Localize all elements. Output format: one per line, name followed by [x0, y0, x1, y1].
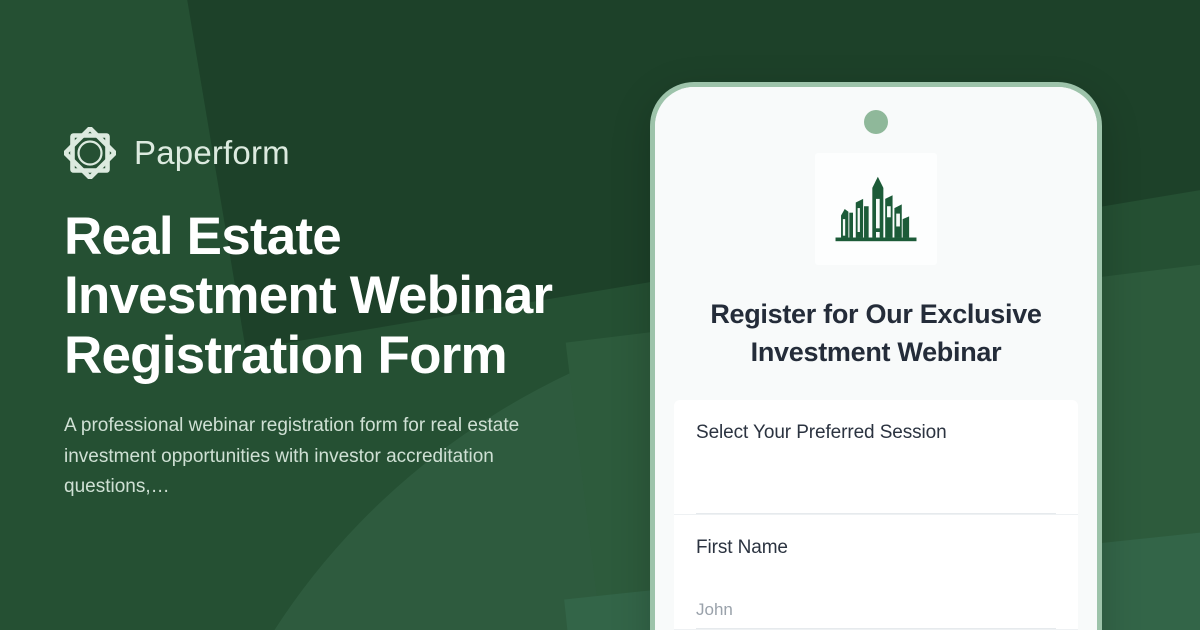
form-fields: Select Your Preferred Session First Name…: [674, 400, 1078, 630]
field-label-first-name: First Name: [696, 537, 1056, 559]
session-select-input[interactable]: [696, 472, 1056, 514]
camera-dot-icon: [864, 110, 888, 134]
city-buildings-icon: [830, 171, 922, 247]
phone-screen: Register for Our Exclusive Investment We…: [655, 87, 1097, 630]
form-field-first-name[interactable]: First Name John: [674, 515, 1078, 630]
brand-lockup: Paperform: [64, 127, 624, 179]
phone-mockup: Register for Our Exclusive Investment We…: [650, 82, 1102, 630]
field-label-session: Select Your Preferred Session: [696, 422, 1056, 444]
form-field-session[interactable]: Select Your Preferred Session: [674, 400, 1078, 515]
brand-name: Paperform: [134, 134, 290, 172]
form-title: Register for Our Exclusive Investment We…: [686, 295, 1066, 372]
form-logo-container: [815, 153, 937, 265]
first-name-input[interactable]: John: [696, 587, 1056, 629]
page-description: A professional webinar registration form…: [64, 411, 559, 503]
hero-content: Paperform Real Estate Investment Webinar…: [64, 0, 624, 630]
page-title: Real Estate Investment Webinar Registrat…: [64, 207, 594, 385]
paperform-logo-icon: [64, 127, 116, 179]
